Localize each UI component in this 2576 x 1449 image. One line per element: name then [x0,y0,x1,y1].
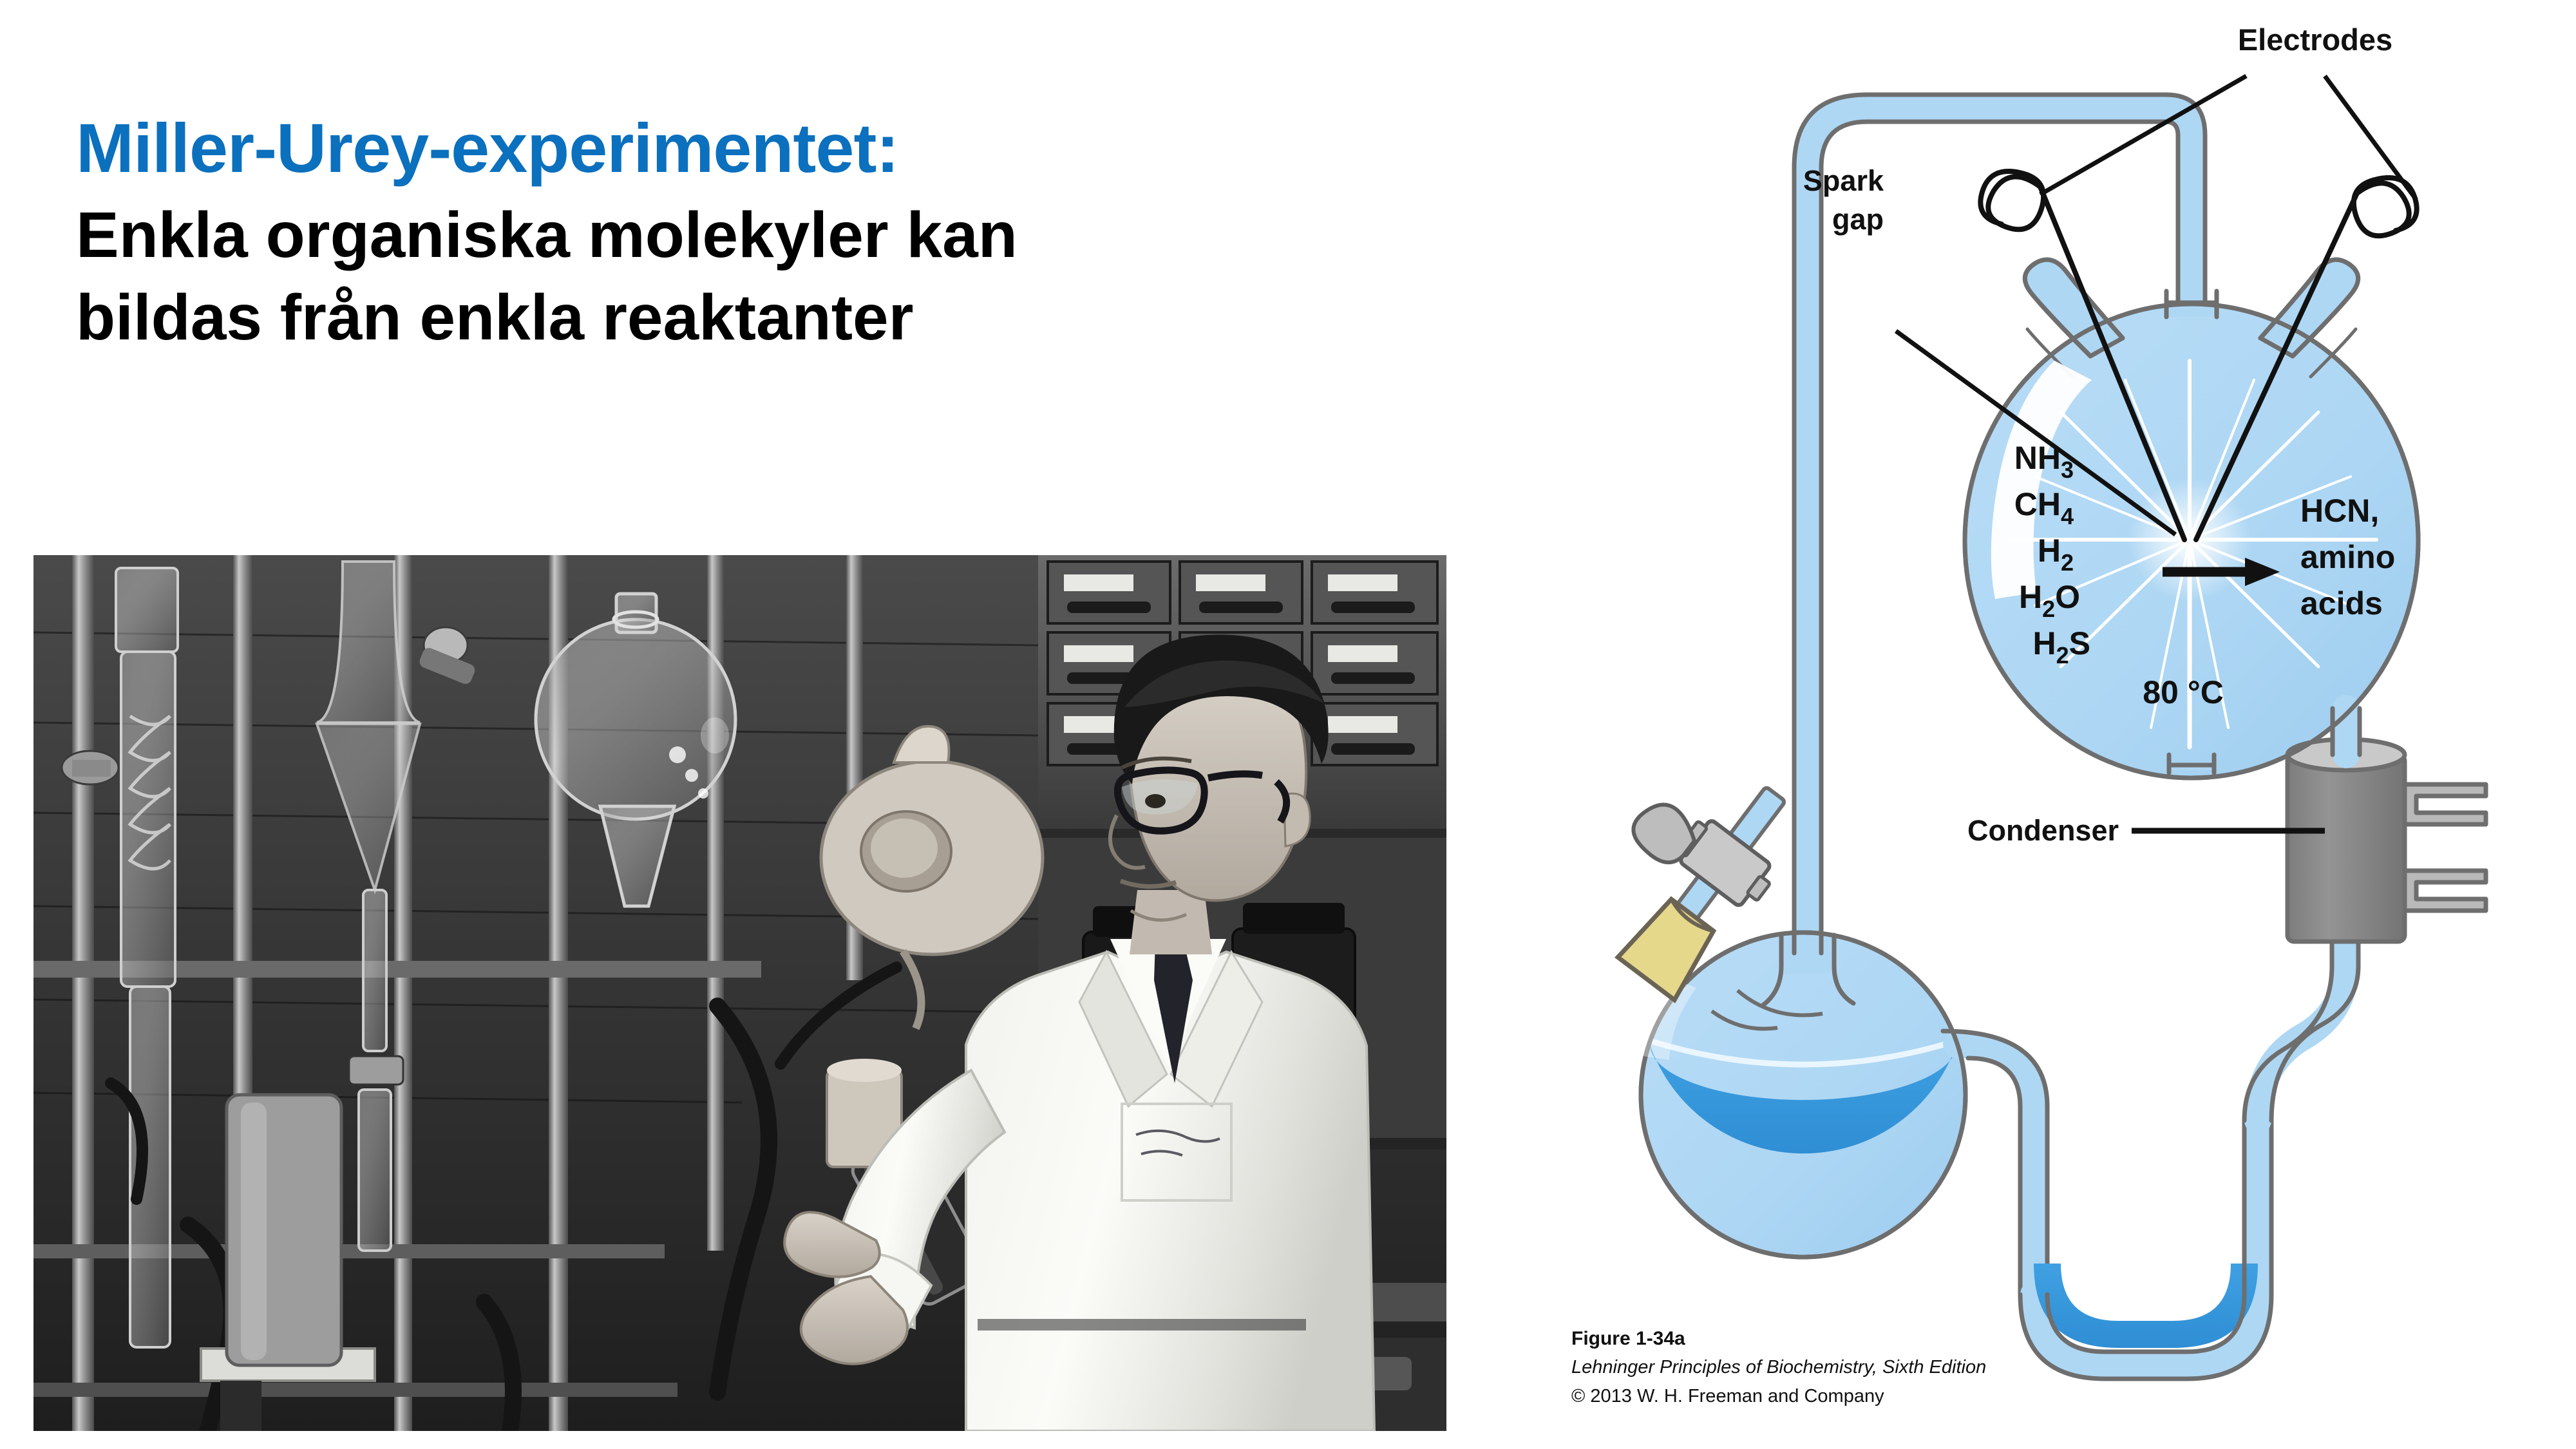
page-title: Miller-Urey-experimentet: [76,109,1248,187]
label-electrodes: Electrodes [2238,23,2392,57]
page-subtitle: Enkla organiska molekyler kan bildas frå… [76,194,1248,359]
product-line-1: HCN, [2300,493,2379,529]
label-spark-gap-line1: Spark [1803,164,1884,197]
label-spark-gap-line2: gap [1832,203,1884,236]
photo-illustration [33,555,1446,1431]
caption-book-title: Lehninger Principles of Biochemistry, Si… [1571,1353,2344,1382]
product-line-3: acids [2300,585,2383,621]
caption-copyright: © 2013 W. H. Freeman and Company [1571,1382,2344,1411]
caption-figure-number: Figure 1-34a [1571,1324,2344,1353]
miller-urey-photograph [33,555,1446,1431]
figure-caption: Figure 1-34a Lehninger Principles of Bio… [1571,1324,2344,1411]
product-line-2: amino [2300,539,2395,575]
subtitle-line-2: bildas från enkla reaktanter [76,276,1248,359]
title-block: Miller-Urey-experimentet: Enkla organisk… [76,109,1248,359]
apparatus-svg: Electrodes Spark gap Condenser NH3 CH4 H… [1481,0,2576,1449]
label-condenser: Condenser [1967,814,2119,847]
subtitle-line-1: Enkla organiska molekyler kan [76,194,1248,276]
label-temperature: 80 °C [2143,674,2224,710]
miller-urey-apparatus-diagram: Electrodes Spark gap Condenser NH3 CH4 H… [1481,0,2576,1449]
